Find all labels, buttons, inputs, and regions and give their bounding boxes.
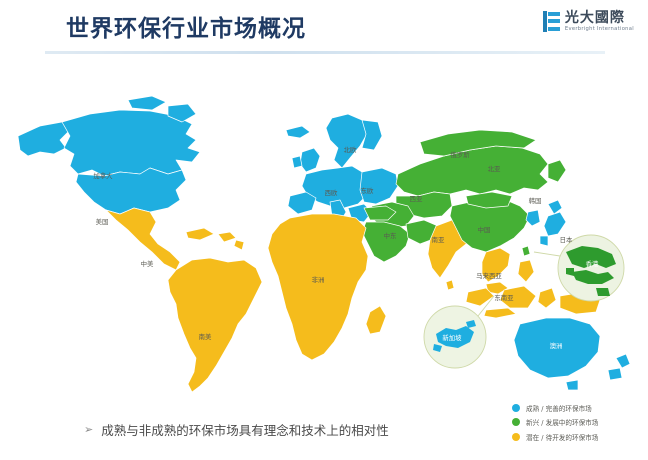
region-south-america bbox=[168, 258, 262, 392]
legend-label-mature: 成熟 / 完善的环保市场 bbox=[526, 403, 592, 413]
region-iberia bbox=[288, 192, 316, 214]
legend-dot-emerging bbox=[512, 418, 520, 426]
region-nordic bbox=[326, 114, 368, 168]
legend-item-mature: 成熟 / 完善的环保市场 bbox=[512, 403, 598, 413]
region-greenland bbox=[206, 92, 244, 128]
region-british-isles bbox=[300, 148, 320, 172]
region-caribbean-2 bbox=[218, 232, 236, 242]
map-label-west-europe: 西欧 bbox=[325, 188, 338, 197]
region-sri-lanka bbox=[446, 280, 454, 290]
region-japan-honshu bbox=[544, 212, 566, 236]
map-label-korea: 韩国 bbox=[529, 196, 542, 205]
region-new-zealand-s bbox=[608, 368, 622, 380]
region-java bbox=[484, 308, 516, 318]
map-label-russia: 俄罗斯 bbox=[450, 150, 470, 159]
region-kamchatka bbox=[548, 160, 566, 182]
logo-text-cn: 光大國際 bbox=[565, 11, 634, 25]
map-label-australia: 澳洲 bbox=[550, 341, 563, 350]
everbright-e-icon bbox=[543, 11, 560, 32]
map-label-south-america: 南美 bbox=[199, 332, 212, 341]
region-japan-kyushu bbox=[540, 236, 548, 246]
region-iceland bbox=[286, 126, 310, 138]
legend-dot-mature bbox=[512, 404, 520, 412]
slide-header: 世界环保行业市场概况 光大國際 Everbright International bbox=[0, 0, 648, 56]
map-legend: 成熟 / 完善的环保市场 新兴 / 发展中的环保市场 潜在 / 待开发的环保市场 bbox=[512, 403, 598, 442]
legend-item-emerging: 新兴 / 发展中的环保市场 bbox=[512, 417, 598, 427]
region-russia bbox=[396, 146, 548, 196]
map-label-usa: 美国 bbox=[96, 217, 109, 226]
region-africa bbox=[268, 214, 368, 360]
brand-logo: 光大國際 Everbright International bbox=[543, 11, 634, 32]
region-caribbean-3 bbox=[234, 240, 244, 250]
region-tasmania bbox=[566, 380, 578, 390]
page-title: 世界环保行业市场概况 bbox=[66, 9, 306, 43]
region-korea bbox=[526, 210, 540, 226]
region-caribbean-1 bbox=[186, 228, 214, 240]
header-divider bbox=[45, 51, 605, 54]
legend-label-potential: 潜在 / 待开发的环保市场 bbox=[526, 432, 598, 442]
region-alaska bbox=[18, 122, 70, 156]
map-label-central-america: 中美 bbox=[141, 259, 154, 268]
region-eastern-europe bbox=[360, 168, 398, 204]
map-label-north-europe: 北欧 bbox=[344, 145, 357, 154]
map-label-africa: 非洲 bbox=[312, 275, 325, 284]
map-label-south-asia: 南亚 bbox=[432, 235, 445, 244]
map-label-canada: 加拿大 bbox=[93, 171, 113, 180]
map-label-hongkong: 香港 bbox=[586, 259, 599, 268]
world-map: 加拿大 美国 中美 南美 北欧 西欧 东欧 俄罗斯 北亚 西亚 中东 南亚 中国… bbox=[0, 56, 648, 406]
map-label-japan: 日本 bbox=[560, 235, 573, 244]
region-philippines bbox=[518, 260, 534, 282]
region-canada-arctic bbox=[128, 96, 166, 110]
summary-bullet: ➢ 成熟与非成熟的环保市场具有理念和技术上的相对性 bbox=[84, 420, 389, 439]
map-label-singapore: 新加坡 bbox=[442, 333, 462, 342]
inset-singapore bbox=[424, 296, 494, 368]
region-sulawesi bbox=[538, 288, 556, 308]
bullet-text: 成熟与非成熟的环保市场具有理念和技术上的相对性 bbox=[101, 420, 389, 439]
region-ireland bbox=[292, 156, 302, 168]
region-madagascar bbox=[366, 306, 386, 334]
region-taiwan bbox=[522, 246, 530, 256]
legend-item-potential: 潜在 / 待开发的环保市场 bbox=[512, 432, 598, 442]
map-label-china: 中国 bbox=[478, 225, 491, 234]
map-label-north-asia: 北亚 bbox=[488, 165, 501, 173]
legend-label-emerging: 新兴 / 发展中的环保市场 bbox=[526, 417, 598, 427]
map-label-malaysia: 马来西亚 bbox=[476, 272, 502, 280]
map-label-west-asia: 西亚 bbox=[410, 195, 423, 203]
legend-dot-potential bbox=[512, 433, 520, 441]
logo-text-en: Everbright International bbox=[565, 27, 634, 32]
map-label-southeast-asia: 东南亚 bbox=[494, 293, 514, 302]
region-middle-east bbox=[362, 222, 410, 262]
map-label-middle-east: 中东 bbox=[384, 231, 397, 240]
region-new-zealand bbox=[616, 354, 630, 368]
map-label-east-europe: 东欧 bbox=[361, 186, 374, 195]
bullet-arrow-icon: ➢ bbox=[84, 424, 93, 435]
